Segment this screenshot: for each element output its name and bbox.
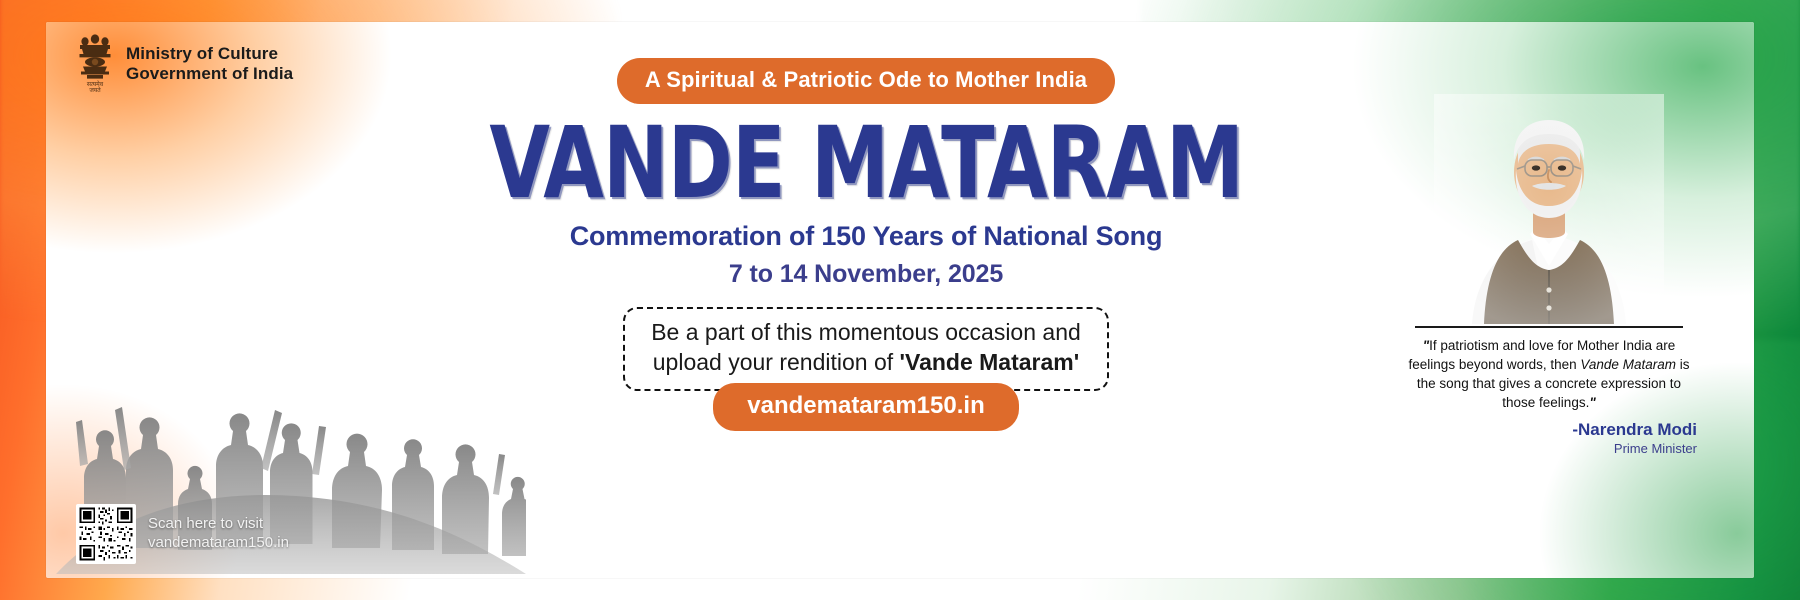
ministry-line-2: Government of India	[126, 64, 293, 84]
banner-content-card: सत्यमेव जयते Ministry of Culture Governm…	[46, 22, 1754, 578]
qr-caption-line-1: Scan here to visit	[148, 515, 289, 534]
website-url-button[interactable]: vandemataram150.in	[713, 383, 1018, 431]
ministry-logo-block: सत्यमेव जयते Ministry of Culture Governm…	[74, 32, 293, 94]
svg-text:सत्यमेव: सत्यमेव	[87, 80, 104, 88]
svg-text:जयते: जयते	[89, 86, 101, 94]
quote-close-mark: "	[1589, 395, 1595, 410]
quote-divider	[1415, 326, 1683, 328]
cta-line-1: Be a part of this momentous occasion and	[651, 318, 1081, 348]
page-title: VANDE MATARAM	[489, 118, 1243, 209]
tagline-badge: A Spiritual & Patriotic Ode to Mother In…	[617, 58, 1115, 104]
qr-code-icon[interactable]	[76, 504, 136, 564]
cta-line-2: upload your rendition of 'Vande Mataram'	[651, 348, 1081, 378]
qr-scan-block[interactable]: Scan here to visit vandemataram150.in	[76, 504, 289, 564]
subtitle: Commemoration of 150 Years of National S…	[570, 221, 1163, 252]
quote-author-role: Prime Minister	[1401, 441, 1697, 456]
right-content: "If patriotism and love for Mother India…	[1384, 22, 1714, 578]
quote-text: "If patriotism and love for Mother India…	[1401, 337, 1697, 413]
prime-minister-portrait-icon	[1434, 94, 1664, 324]
quote-author: -Narendra Modi	[1401, 420, 1697, 440]
quote-italic-phrase: Vande Mataram	[1580, 357, 1676, 372]
ministry-label: Ministry of Culture Government of India	[126, 32, 293, 84]
qr-caption-line-2: vandemataram150.in	[148, 534, 289, 553]
call-to-action-box: Be a part of this momentous occasion and…	[623, 307, 1109, 391]
cta-line-2-emphasis: 'Vande Mataram'	[900, 349, 1080, 375]
dateline: 7 to 14 November, 2025	[729, 260, 1003, 289]
cta-line-2-prefix: upload your rendition of	[653, 349, 900, 375]
india-state-emblem-icon: सत्यमेव जयते	[74, 32, 116, 94]
qr-caption: Scan here to visit vandemataram150.in	[148, 515, 289, 552]
ministry-line-1: Ministry of Culture	[126, 44, 293, 64]
center-content: A Spiritual & Patriotic Ode to Mother In…	[516, 22, 1216, 578]
vande-mataram-banner: सत्यमेव जयते Ministry of Culture Governm…	[0, 0, 1800, 600]
